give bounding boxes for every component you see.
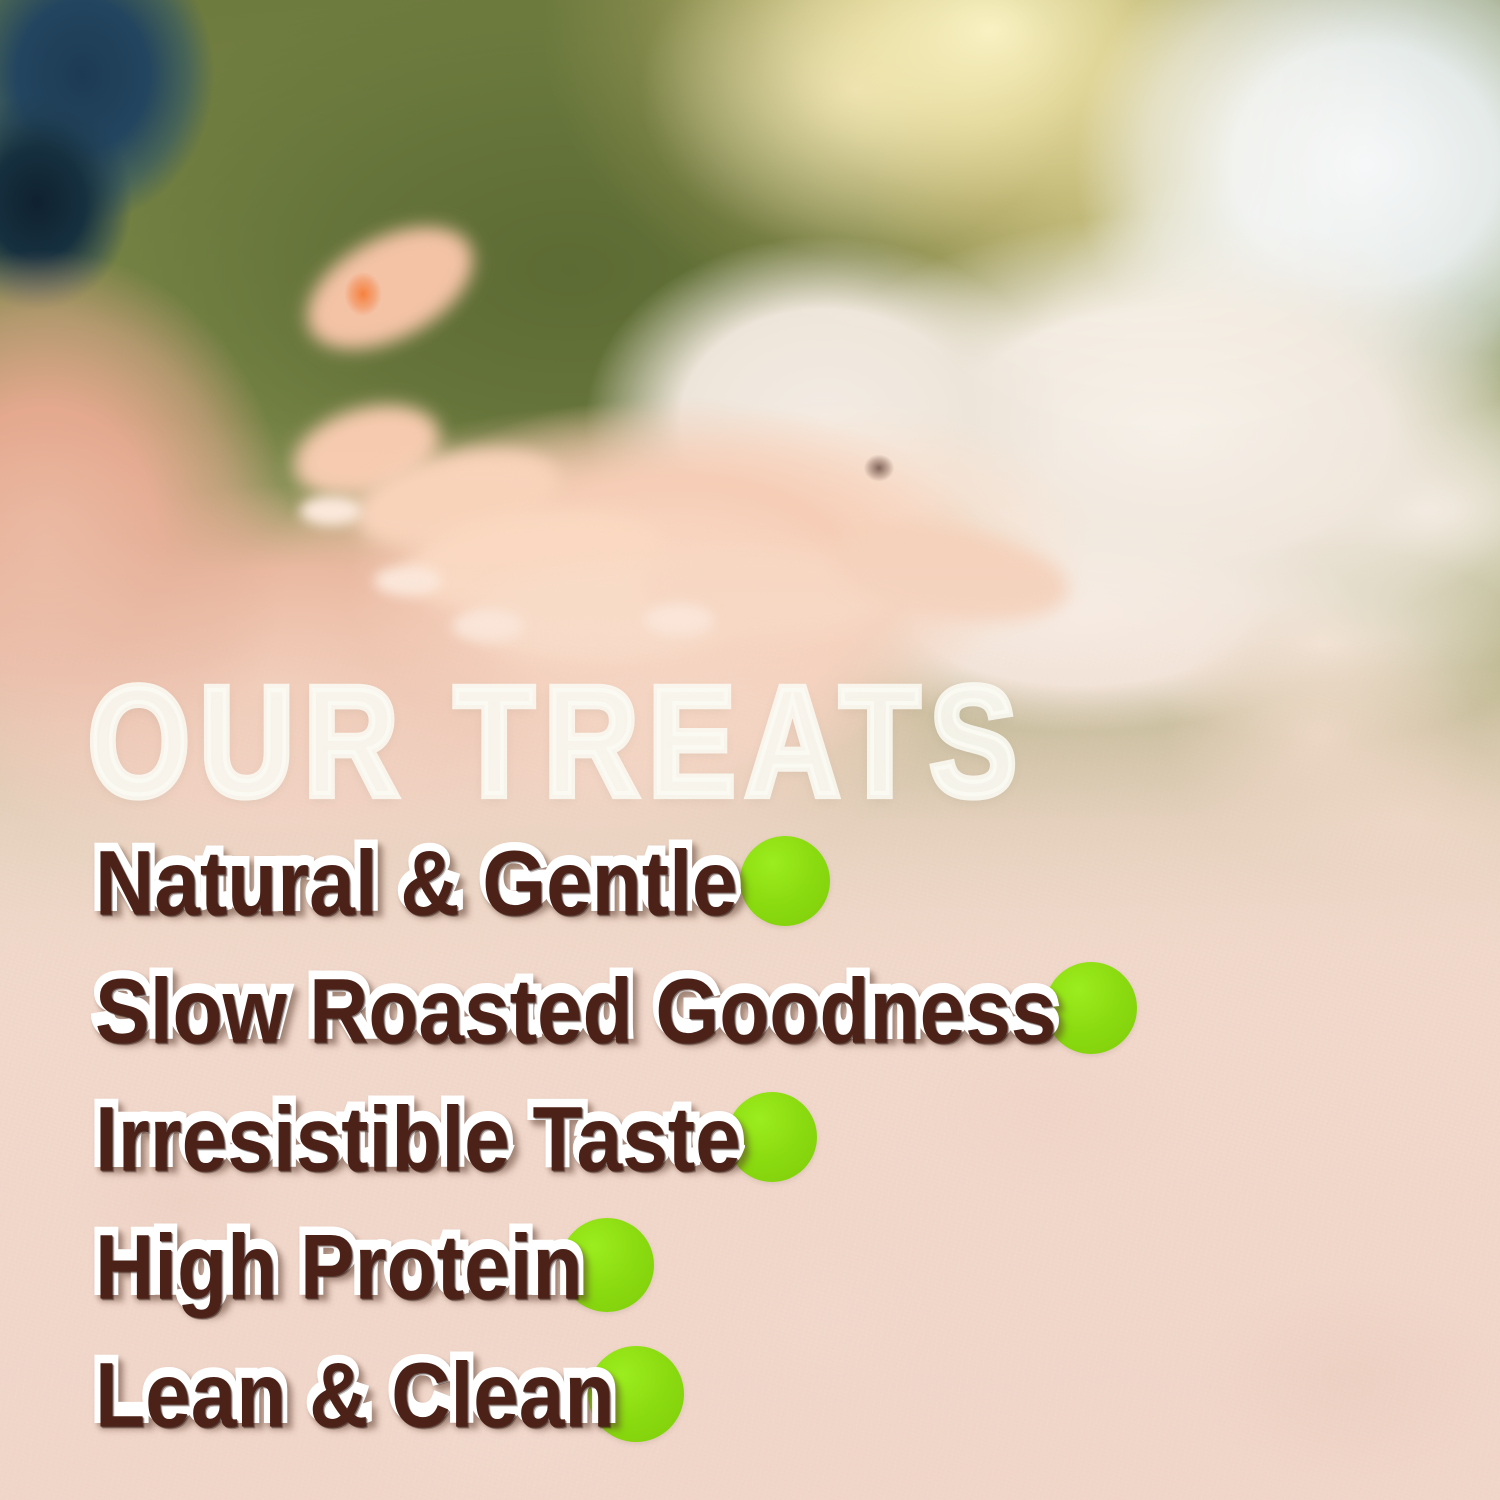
feature-label-wrap: Irresistible Taste Irresistible Taste [95, 1082, 741, 1186]
list-item: Irresistible Taste Irresistible Taste [0, 1082, 1500, 1210]
bullet-dot-icon [740, 836, 830, 926]
list-item: Slow Roasted Goodness Slow Roasted Goodn… [0, 954, 1500, 1082]
feature-label: Irresistible Taste [95, 1082, 741, 1198]
feature-label-wrap: Lean & Clean Lean & Clean [95, 1338, 614, 1442]
product-feature-poster: OUR TREATS Natural & Gentle Natural & Ge… [0, 0, 1500, 1500]
feature-label: Lean & Clean [95, 1338, 614, 1454]
list-item: Natural & Gentle Natural & Gentle [0, 826, 1500, 954]
page-title: OUR TREATS [88, 664, 1027, 820]
list-item: Lean & Clean Lean & Clean [0, 1338, 1500, 1466]
feature-label: High Protein [95, 1210, 582, 1326]
feature-label: Natural & Gentle [95, 826, 737, 942]
feature-list: Natural & Gentle Natural & Gentle Slow R… [0, 826, 1500, 1466]
feature-label-wrap: Natural & Gentle Natural & Gentle [95, 826, 737, 930]
bullet-dot-icon [1045, 962, 1137, 1054]
feature-label-wrap: Slow Roasted Goodness Slow Roasted Goodn… [95, 954, 1056, 1058]
feature-label-wrap: High Protein High Protein [95, 1210, 582, 1314]
list-item: High Protein High Protein [0, 1210, 1500, 1338]
feature-label: Slow Roasted Goodness [95, 954, 1056, 1070]
